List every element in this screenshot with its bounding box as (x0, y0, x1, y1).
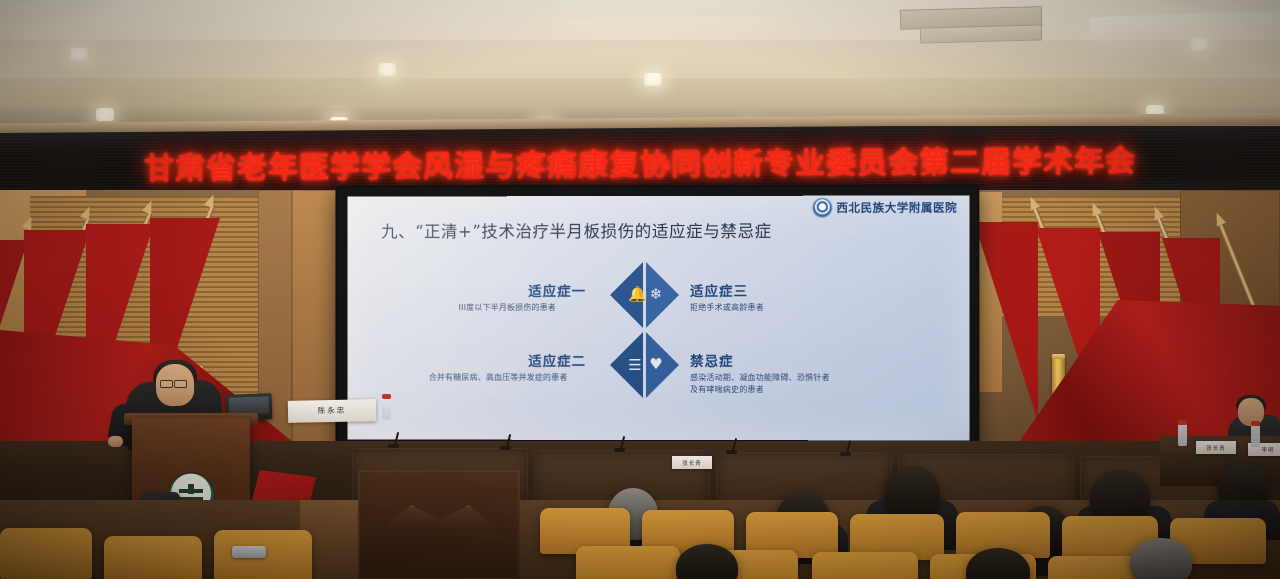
heart-icon: ♥ (648, 357, 664, 372)
ceiling-downlight (378, 63, 396, 76)
layers-icon: ☰ (627, 358, 643, 373)
bell-icon: 🔔 (628, 287, 644, 302)
university-seal-icon (813, 199, 831, 217)
presentation-slide[interactable]: 西北民族大学附属医院 九、“正清+”技术治疗半月板损伤的适应症与禁忌症 🔔 ❄ … (347, 195, 969, 440)
speaker-glasses-left (160, 380, 173, 388)
slide-title: 九、“正清+”技术治疗半月板损伤的适应症与禁忌症 (381, 218, 772, 242)
quadrant-desc-bottom-right-line1: 感染活动期、凝血功能障碍、恐惧针者 (690, 372, 830, 384)
ceiling (0, 0, 1280, 132)
quadrant-desc-bottom-right-line2: 及有哮喘病史的患者 (690, 384, 764, 396)
ceiling-vent (920, 24, 1042, 43)
ceiling-band-2 (0, 40, 1280, 78)
water-bottle-cap (1251, 421, 1260, 426)
conference-hall-photo: 甘肃省老年医学学会风湿与疼痛康复协同创新专业委员会第二届学术年会 (0, 0, 1280, 579)
ceiling-downlight (1190, 38, 1208, 51)
head-table-nameplate-text: 李明 (1248, 446, 1280, 454)
speaker-hand (108, 436, 123, 447)
stage-nameplate-text: 张长青 (672, 459, 712, 467)
water-bottle (1251, 425, 1260, 447)
podium-nameplate: 陈永忠 (288, 399, 376, 423)
quadrant-label-bottom-right: 禁忌症 (690, 350, 734, 370)
water-bottle-cap (1178, 420, 1187, 425)
speaker-glasses-right (174, 380, 187, 388)
auditorium-seat[interactable] (104, 536, 202, 579)
quadrant-desc-top-left: III度以下半月板损伤的患者 (459, 302, 556, 314)
water-bottle (1178, 424, 1187, 446)
soffit-downlight (96, 108, 114, 121)
phone-on-floor (232, 546, 266, 558)
water-bottle (382, 398, 391, 420)
ceiling-downlight (644, 73, 662, 86)
flag-cloth (974, 222, 1038, 422)
water-bottle-cap (382, 394, 391, 399)
quadrant-desc-bottom-left: 合并有糖尿病、高血压等并发症的患者 (429, 372, 568, 384)
auditorium-seat[interactable] (0, 528, 92, 579)
quadrant-label-bottom-left: 适应症二 (528, 350, 586, 370)
ceiling-band-3 (0, 78, 1280, 108)
quadrant-label-top-left: 适应症一 (528, 280, 586, 300)
quadrant-diagram: 🔔 ❄ ☰ ♥ 适应症一 III度以下半月板损伤的患者 适应症三 拒绝手术或高龄… (347, 258, 969, 434)
stage-nameplate: 张长青 (672, 456, 712, 469)
slide-logo: 西北民族大学附属医院 (813, 199, 957, 217)
auditorium-seat[interactable] (576, 546, 680, 579)
attendee-head (1130, 538, 1192, 579)
auditorium-seat[interactable] (812, 552, 918, 579)
ceiling-downlight (70, 48, 88, 61)
quadrant-desc-top-right: 拒绝手术或高龄患者 (690, 302, 764, 314)
podium-nameplate-text: 陈永忠 (288, 404, 376, 417)
head-table-nameplate-text: 张长青 (1196, 444, 1236, 452)
slide-logo-text: 西北民族大学附属医院 (836, 200, 957, 216)
led-banner-text: 甘肃省老年医学学会风湿与疼痛康复协同创新专业委员会第二届学术年会 (144, 136, 1136, 188)
quadrant-label-top-right: 适应症三 (690, 280, 748, 300)
flower-icon: ❄ (648, 287, 664, 302)
head-table-nameplate: 张长青 (1196, 441, 1236, 454)
